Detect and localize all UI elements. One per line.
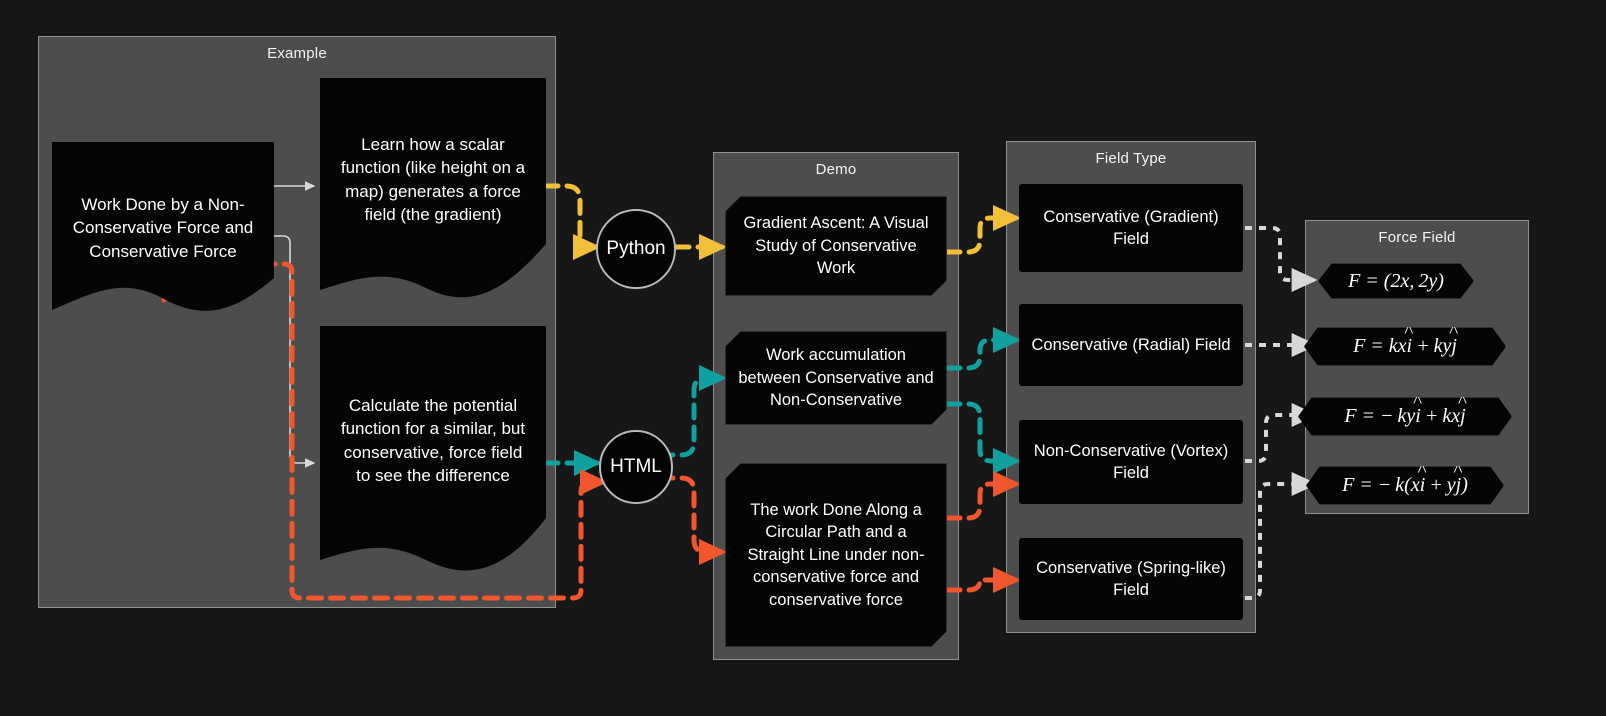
node-force-field-gradient[interactable]: F = (2x, 2y) (1318, 263, 1474, 299)
node-field-conservative-spring[interactable]: Conservative (Spring-like) Field (1019, 538, 1243, 620)
node-field-conservative-spring-text: Conservative (Spring-like) Field (1027, 557, 1235, 602)
node-field-conservative-gradient-text: Conservative (Gradient) Field (1029, 206, 1233, 251)
node-demo-gradient-ascent-text: Gradient Ascent: A Visual Study of Conse… (738, 212, 934, 279)
diagram-canvas: Example Demo Field Type Force Field (0, 0, 1606, 716)
node-work-done-root-text: Work Done by a Non-Conservative Force an… (52, 193, 274, 262)
node-html-circle[interactable]: HTML (599, 430, 673, 504)
node-field-conservative-gradient[interactable]: Conservative (Gradient) Field (1019, 184, 1243, 272)
node-learn-scalar[interactable]: Learn how a scalar function (like height… (320, 78, 546, 303)
formula-radial: F = kxi^ + kyj^ (1353, 335, 1457, 358)
node-field-conservative-radial-text: Conservative (Radial) Field (1032, 334, 1231, 356)
group-force-field-label: Force Field (1306, 229, 1528, 246)
node-field-non-conservative-vortex[interactable]: Non-Conservative (Vortex) Field (1019, 420, 1243, 504)
node-force-field-vortex[interactable]: F = − kyi^ + kxj^ (1298, 397, 1512, 436)
node-force-field-spring[interactable]: F = − k(xi^ + yj^) (1306, 466, 1504, 505)
node-demo-gradient-ascent[interactable]: Gradient Ascent: A Visual Study of Conse… (725, 196, 947, 296)
formula-spring: F = − k(xi^ + yj^) (1342, 474, 1468, 497)
node-calculate-potential[interactable]: Calculate the potential function for a s… (320, 326, 546, 577)
node-python-circle[interactable]: Python (596, 209, 676, 289)
node-demo-circular-path[interactable]: The work Done Along a Circular Path and … (725, 463, 947, 647)
group-field-type-label: Field Type (1007, 150, 1255, 167)
node-force-field-radial[interactable]: F = kxi^ + kyj^ (1304, 327, 1506, 366)
node-field-conservative-radial[interactable]: Conservative (Radial) Field (1019, 304, 1243, 386)
formula-vortex: F = − kyi^ + kxj^ (1344, 405, 1465, 428)
node-calculate-potential-text: Calculate the potential function for a s… (320, 394, 546, 486)
formula-gradient: F = (2x, 2y) (1348, 270, 1444, 293)
group-demo-label: Demo (714, 161, 958, 178)
node-demo-work-accumulation[interactable]: Work accumulation between Conservative a… (725, 331, 947, 425)
group-example-label: Example (39, 45, 555, 62)
node-demo-circular-path-text: The work Done Along a Circular Path and … (736, 499, 936, 611)
node-learn-scalar-text: Learn how a scalar function (like height… (320, 133, 546, 225)
node-html-label: HTML (610, 456, 662, 478)
node-python-label: Python (606, 238, 665, 260)
node-work-done-root[interactable]: Work Done by a Non-Conservative Force an… (52, 142, 274, 314)
node-field-non-conservative-vortex-text: Non-Conservative (Vortex) Field (1029, 440, 1233, 485)
node-demo-work-accumulation-text: Work accumulation between Conservative a… (734, 344, 938, 411)
